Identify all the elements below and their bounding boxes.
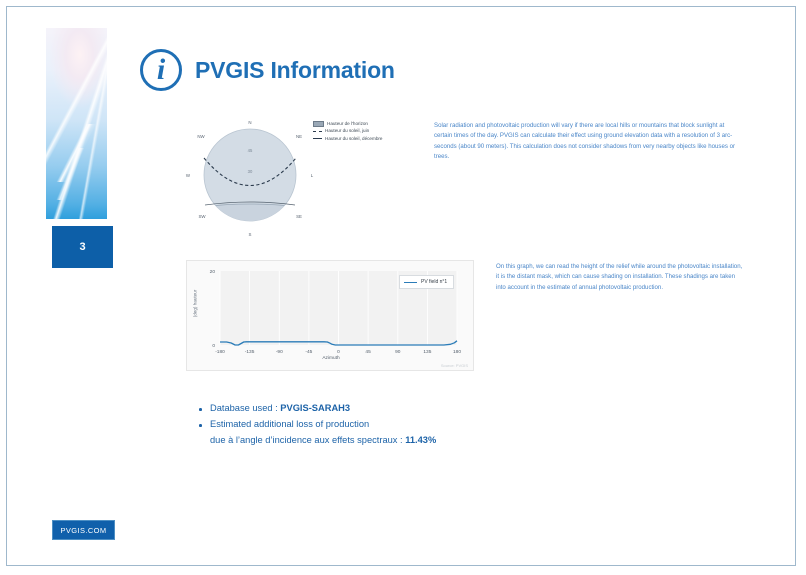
- footer-site-badge[interactable]: PVGIS.COM: [52, 520, 115, 540]
- legend-swatch-dashed-line-icon: [313, 131, 322, 132]
- graph-description-text: On this graph, we can read the height of…: [496, 262, 746, 293]
- decorative-solar-banner-image: [46, 28, 107, 219]
- page-number-value: 3: [79, 241, 85, 253]
- summary-bullet-list: Database used : PVGIS-SARAH3 Estimated a…: [197, 401, 436, 448]
- svg-text:0: 0: [337, 349, 340, 355]
- elevation-ring-label-30: 30: [248, 169, 253, 174]
- compass-label-e: L: [311, 173, 314, 178]
- chart-ytick-0: 0: [212, 343, 215, 349]
- compass-label-sw: SW: [198, 214, 206, 219]
- svg-text:-135: -135: [245, 349, 255, 355]
- legend-swatch-solid-line-icon: [313, 138, 322, 139]
- database-used-value: PVGIS-SARAH3: [280, 403, 350, 413]
- page-title: PVGIS Information: [195, 57, 395, 84]
- svg-text:-90: -90: [276, 349, 283, 355]
- compass-label-n: N: [248, 120, 251, 125]
- legend-label-sun-june: Hauteur du soleil, juin: [325, 127, 369, 134]
- svg-text:90: 90: [395, 349, 401, 355]
- page-header: i PVGIS Information: [140, 49, 395, 91]
- compass-label-nw: NW: [197, 134, 205, 139]
- banner-light-streak-secondary: [46, 148, 107, 200]
- chart-ytick-20: 20: [210, 269, 216, 275]
- legend-swatch-horizon-icon: [313, 121, 324, 127]
- chart-legend-line-icon: [404, 282, 417, 283]
- legend-item-sun-december: Hauteur du soleil, décembre: [313, 135, 382, 142]
- legend-label-sun-december: Hauteur du soleil, décembre: [325, 135, 382, 142]
- legend-item-horizon: Hauteur de l'horizon: [313, 120, 382, 127]
- info-icon: i: [140, 49, 182, 91]
- info-icon-glyph: i: [157, 55, 165, 85]
- chart-x-axis-label: Azimuth: [187, 356, 475, 361]
- slide-page: 3 PVGIS.COM i PVGIS Information 45 30: [6, 6, 796, 566]
- chart-legend-label: PV field n°1: [421, 279, 447, 285]
- chart-legend: PV field n°1: [399, 275, 454, 289]
- svg-text:-45: -45: [305, 349, 312, 355]
- horizon-fill: [201, 204, 299, 229]
- footer-site-label: PVGIS.COM: [60, 526, 106, 535]
- svg-text:-180: -180: [215, 349, 225, 355]
- legend-item-sun-june: Hauteur du soleil, juin: [313, 127, 382, 134]
- sun-path-svg: 45 30 N NW NE W L SW SE S: [183, 113, 318, 245]
- compass-label-s: S: [249, 232, 252, 237]
- loss-of-production-detail: due à l’angle d’incidence aux effets spe…: [197, 433, 436, 448]
- page-number-badge: 3: [52, 226, 113, 268]
- horizon-description-text: Solar radiation and photovoltaic product…: [434, 121, 736, 163]
- compass-label-se: SE: [296, 214, 302, 219]
- compass-label-w: W: [186, 173, 191, 178]
- svg-text:180: 180: [453, 349, 461, 355]
- incidence-angle-value: 11.43%: [405, 435, 436, 445]
- chart-xtick-labels: -180 -135 -90 -45 0 45 90 135 180: [215, 349, 461, 355]
- database-used-label: Database used :: [210, 403, 280, 413]
- loss-of-production-label: Estimated additional loss of production: [210, 419, 369, 429]
- azimuth-horizon-chart: 20 0 -180 -135 -90 -45 0 45 90 135 180 (…: [186, 260, 474, 371]
- sun-path-legend: Hauteur de l'horizon Hauteur du soleil, …: [313, 120, 382, 142]
- compass-label-ne: NE: [296, 134, 302, 139]
- sun-path-diagram: 45 30 N NW NE W L SW SE S: [183, 113, 318, 245]
- list-item: Estimated additional loss of production: [197, 417, 436, 432]
- svg-text:45: 45: [365, 349, 371, 355]
- legend-label-horizon: Hauteur de l'horizon: [327, 120, 368, 127]
- elevation-ring-label-45: 45: [248, 148, 253, 153]
- chart-y-axis-label: (deg) hauteur: [193, 273, 198, 335]
- chart-source-credit: Source: PVGIS: [441, 363, 468, 368]
- list-item: Database used : PVGIS-SARAH3: [197, 401, 436, 416]
- incidence-angle-label: due à l’angle d’incidence aux effets spe…: [210, 435, 405, 445]
- svg-text:135: 135: [423, 349, 431, 355]
